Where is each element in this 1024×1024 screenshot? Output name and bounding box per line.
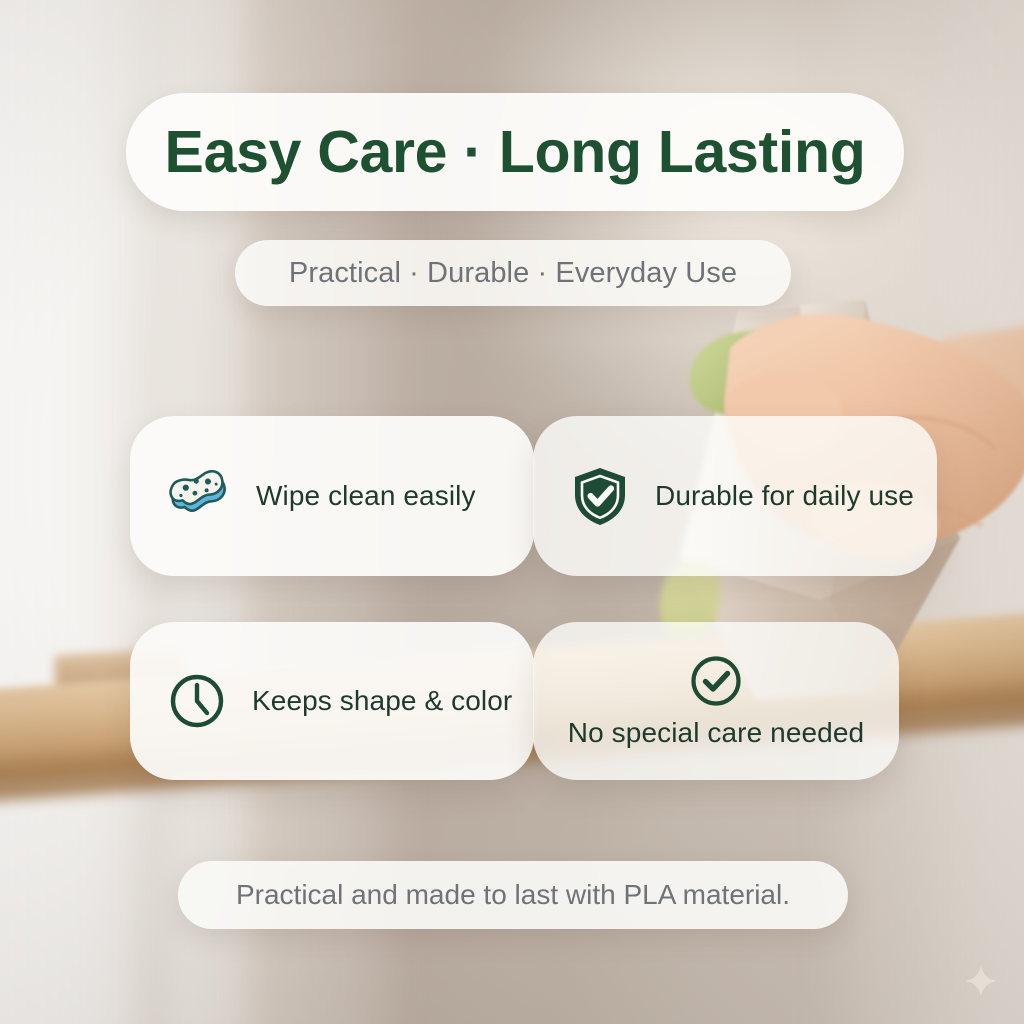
- promo-graphic: Easy Care · Long Lasting Practical · Dur…: [0, 0, 1024, 1024]
- feature-label-durable: Durable for daily use: [655, 480, 914, 512]
- feature-card-wipe[interactable]: Wipe clean easily: [130, 416, 534, 576]
- overlay-content: Easy Care · Long Lasting Practical · Dur…: [0, 0, 1024, 1024]
- sparkle-icon: [964, 964, 998, 998]
- subtitle-pill: Practical · Durable · Everyday Use: [235, 240, 791, 306]
- feature-card-nocare[interactable]: No special care needed: [533, 622, 899, 780]
- feature-card-durable[interactable]: Durable for daily use: [533, 416, 937, 576]
- footer-pill: Practical and made to last with PLA mate…: [178, 861, 848, 929]
- page-title: Easy Care · Long Lasting: [165, 123, 866, 182]
- page-subtitle: Practical · Durable · Everyday Use: [289, 257, 737, 290]
- check-circle-icon: [688, 653, 744, 709]
- footer-note: Practical and made to last with PLA mate…: [236, 879, 790, 911]
- feature-label-shape: Keeps shape & color: [252, 685, 512, 717]
- feature-label-wipe: Wipe clean easily: [256, 480, 476, 512]
- sponge-icon: [168, 468, 230, 524]
- clock-icon: [168, 672, 226, 730]
- feature-card-shape[interactable]: Keeps shape & color: [130, 622, 534, 780]
- title-pill: Easy Care · Long Lasting: [126, 93, 904, 211]
- feature-label-nocare: No special care needed: [568, 717, 864, 749]
- shield-check-icon: [571, 465, 629, 527]
